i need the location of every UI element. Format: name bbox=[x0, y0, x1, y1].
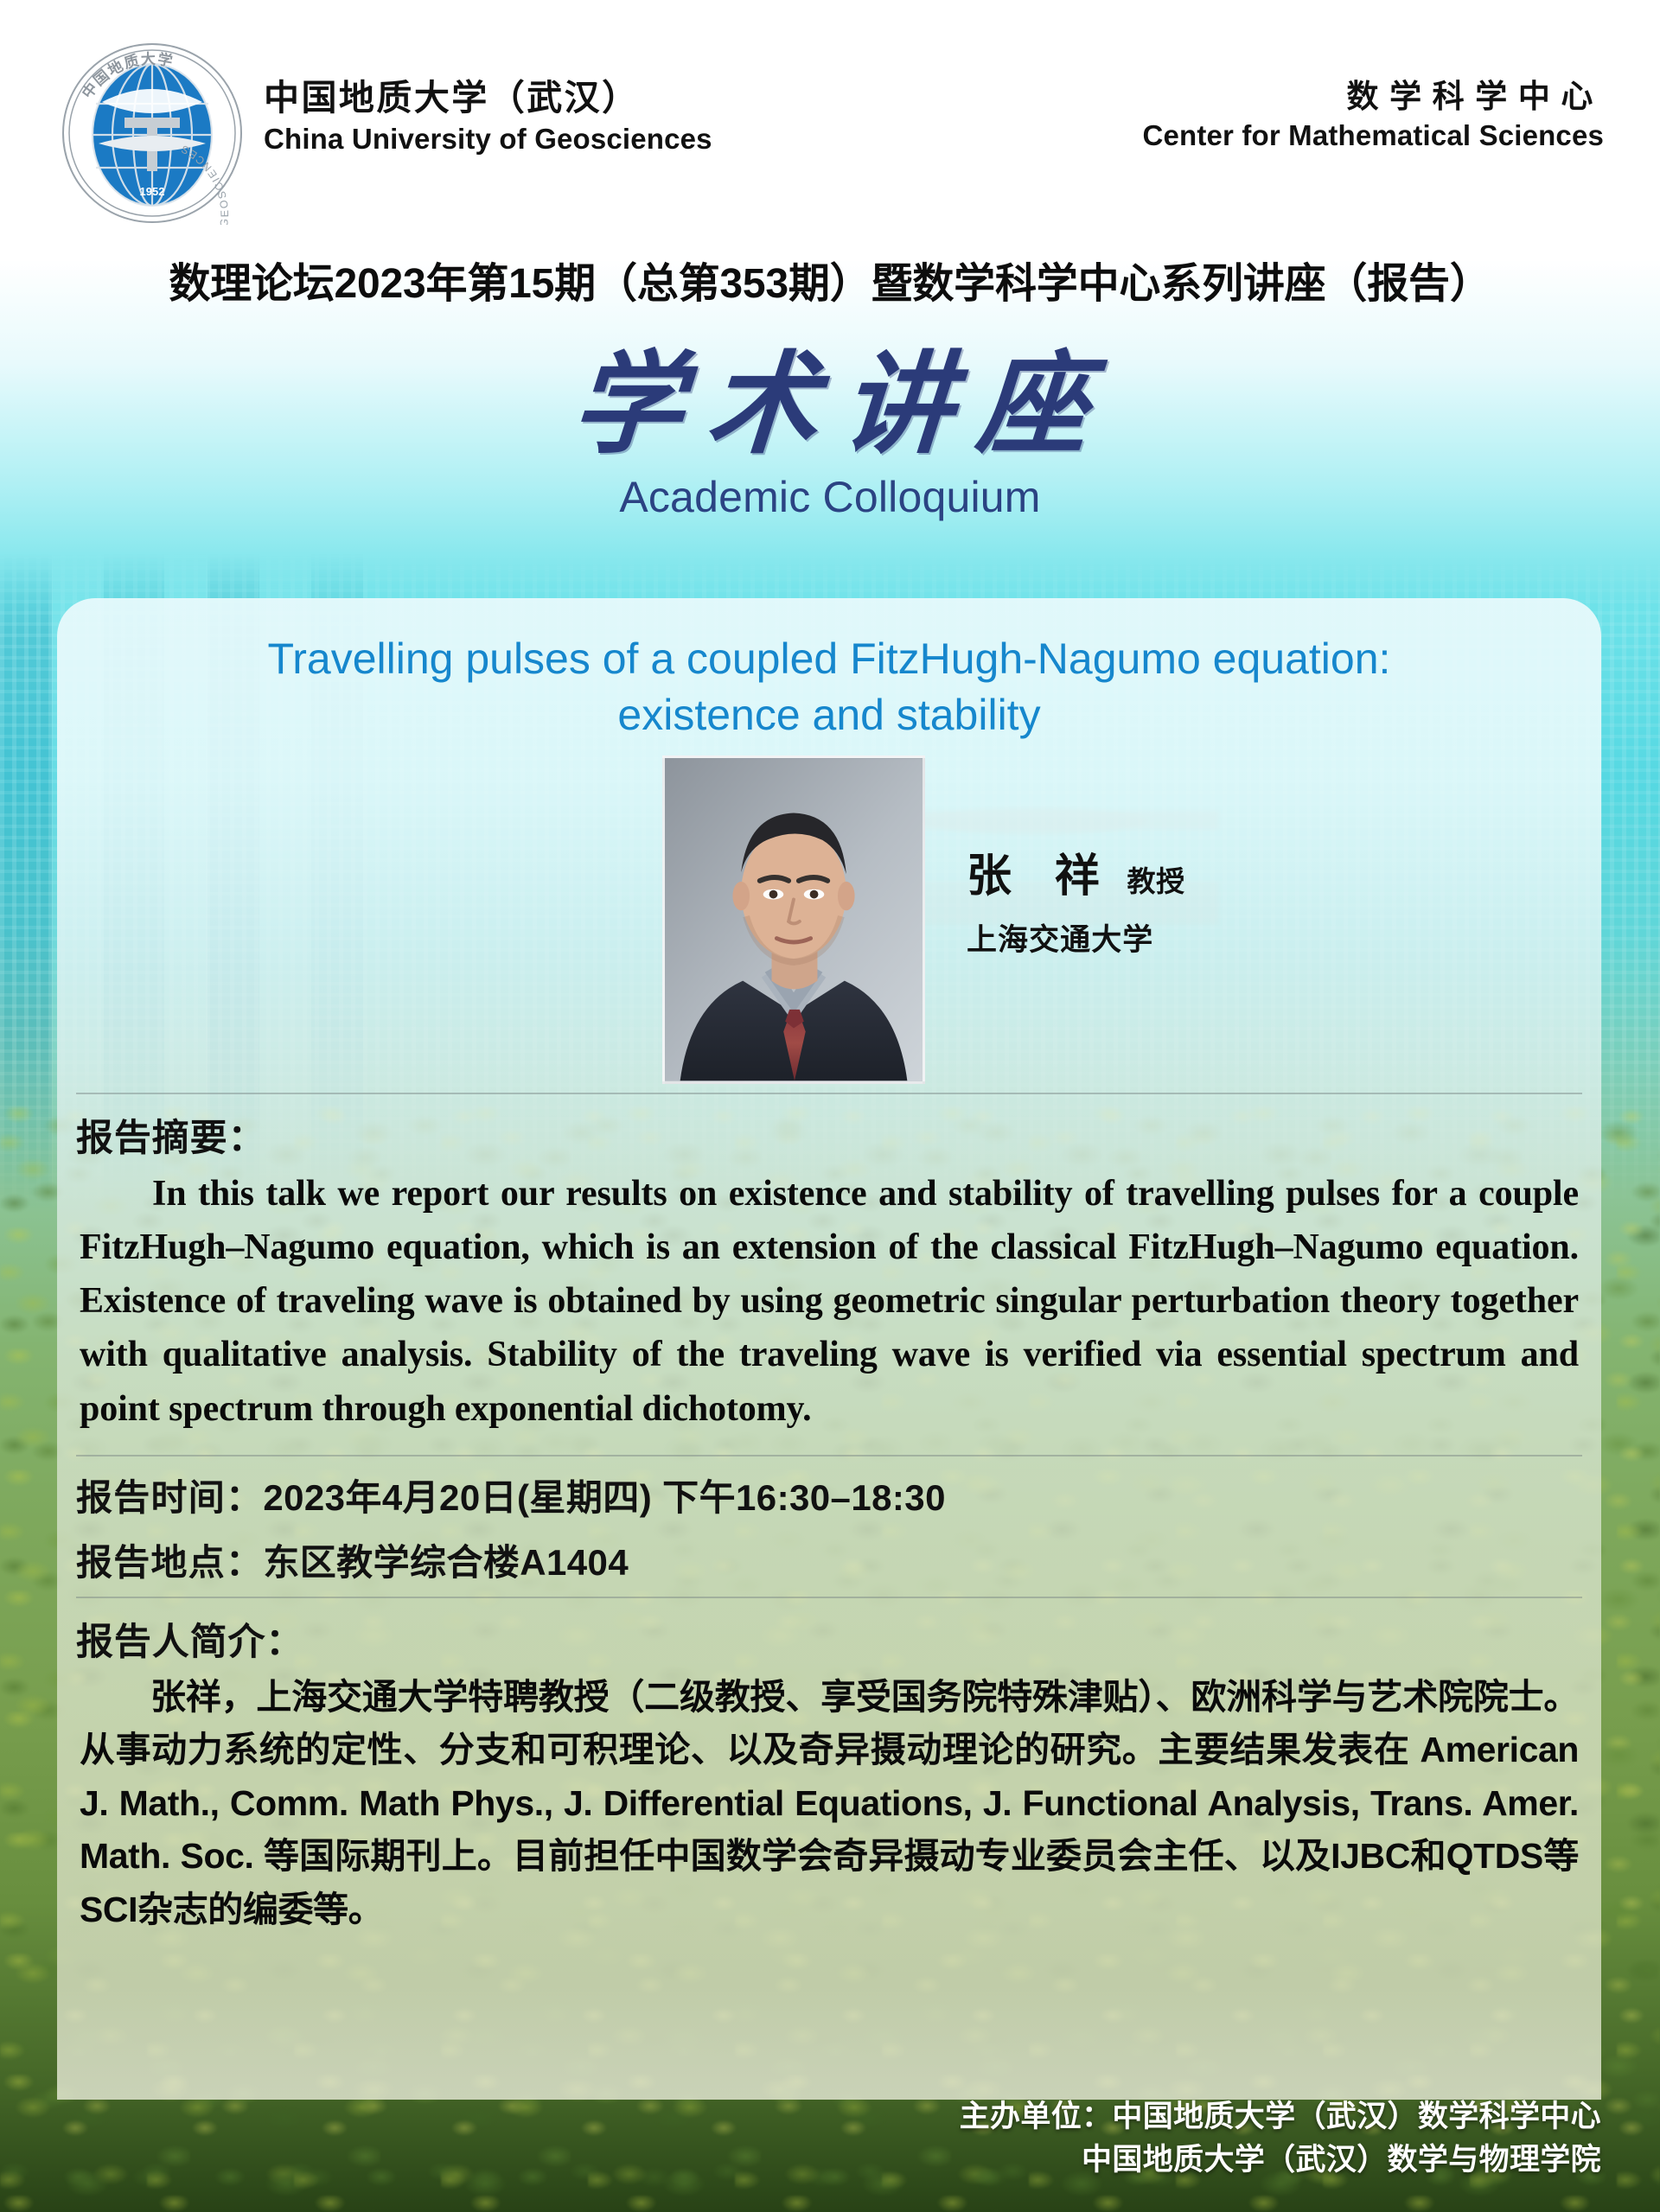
divider-above-details bbox=[76, 1455, 1582, 1457]
speaker-meta: 张 祥 教授 上海交通大学 bbox=[967, 852, 1185, 959]
cug-seal-logo-icon: 1952 CHINA UNIVERSITY OF GEOSCIENCES 中国地… bbox=[61, 41, 244, 225]
divider-above-abstract bbox=[76, 1093, 1582, 1094]
talk-title-line2: existence and stability bbox=[118, 687, 1541, 743]
headline-calligraphy-cn: 学术讲座 bbox=[0, 346, 1660, 465]
speaker-title: 教授 bbox=[1127, 866, 1185, 897]
university-name-cn: 中国地质大学（武汉） bbox=[264, 76, 712, 121]
abstract-label: 报告摘要： bbox=[76, 1108, 1601, 1162]
poster-root: 1952 CHINA UNIVERSITY OF GEOSCIENCES 中国地… bbox=[0, 0, 1660, 2212]
abstract-text: In this talk we report our results on ex… bbox=[80, 1167, 1579, 1436]
talk-time-row: 报告时间：2023年4月20日(星期四) 下午16:30–18:30 bbox=[76, 1469, 1601, 1521]
university-name-en: China University of Geosciences bbox=[264, 121, 712, 158]
talk-place-label: 报告地点： bbox=[76, 1542, 263, 1583]
header-band: 1952 CHINA UNIVERSITY OF GEOSCIENCES 中国地… bbox=[0, 0, 1660, 259]
speaker-name-row: 张 祥 教授 bbox=[967, 852, 1185, 902]
bio-label: 报告人简介： bbox=[76, 1612, 1601, 1666]
headline-english: Academic Colloquium bbox=[0, 472, 1660, 522]
logo-year-text: 1952 bbox=[140, 185, 165, 198]
organizer-line-1: 主办单位：中国地质大学（武汉）数学科学中心 bbox=[960, 2095, 1601, 2139]
talk-title: Travelling pulses of a coupled FitzHugh-… bbox=[118, 631, 1541, 743]
speaker-affiliation: 上海交通大学 bbox=[967, 915, 1185, 959]
center-name-cn: 数学科学中心 bbox=[1143, 76, 1604, 118]
speaker-portrait-photo bbox=[662, 755, 925, 1084]
organizer-footer: 主办单位：中国地质大学（武汉）数学科学中心 中国地质大学（武汉）数学与物理学院 bbox=[960, 2095, 1601, 2183]
center-name-en: Center for Mathematical Sciences bbox=[1143, 118, 1604, 155]
talk-place-value: 东区教学综合楼A1404 bbox=[263, 1542, 629, 1583]
divider-above-bio bbox=[76, 1597, 1582, 1598]
talk-time-value: 2023年4月20日(星期四) 下午16:30–18:30 bbox=[263, 1477, 946, 1518]
headline-block: 学术讲座 Academic Colloquium bbox=[0, 346, 1660, 522]
center-name-block: 数学科学中心 Center for Mathematical Sciences bbox=[1143, 76, 1604, 155]
speaker-row: 张 祥 教授 上海交通大学 bbox=[57, 755, 1601, 1093]
bio-text: 张祥，上海交通大学特聘教授（二级教授、享受国务院特殊津贴）、欧洲科学与艺术院院士… bbox=[80, 1671, 1579, 1937]
series-title: 数理论坛2023年第15期（总第353期）暨数学科学中心系列讲座（报告） bbox=[0, 249, 1660, 309]
talk-time-label: 报告时间： bbox=[76, 1477, 263, 1518]
talk-place-row: 报告地点：东区教学综合楼A1404 bbox=[76, 1533, 1601, 1586]
university-name-block: 中国地质大学（武汉） China University of Geoscienc… bbox=[264, 76, 712, 158]
content-card: Travelling pulses of a coupled FitzHugh-… bbox=[57, 598, 1601, 2100]
organizer-line-2: 中国地质大学（武汉）数学与物理学院 bbox=[960, 2139, 1601, 2183]
talk-title-line1: Travelling pulses of a coupled FitzHugh-… bbox=[118, 631, 1541, 687]
speaker-name: 张 祥 bbox=[967, 852, 1115, 902]
